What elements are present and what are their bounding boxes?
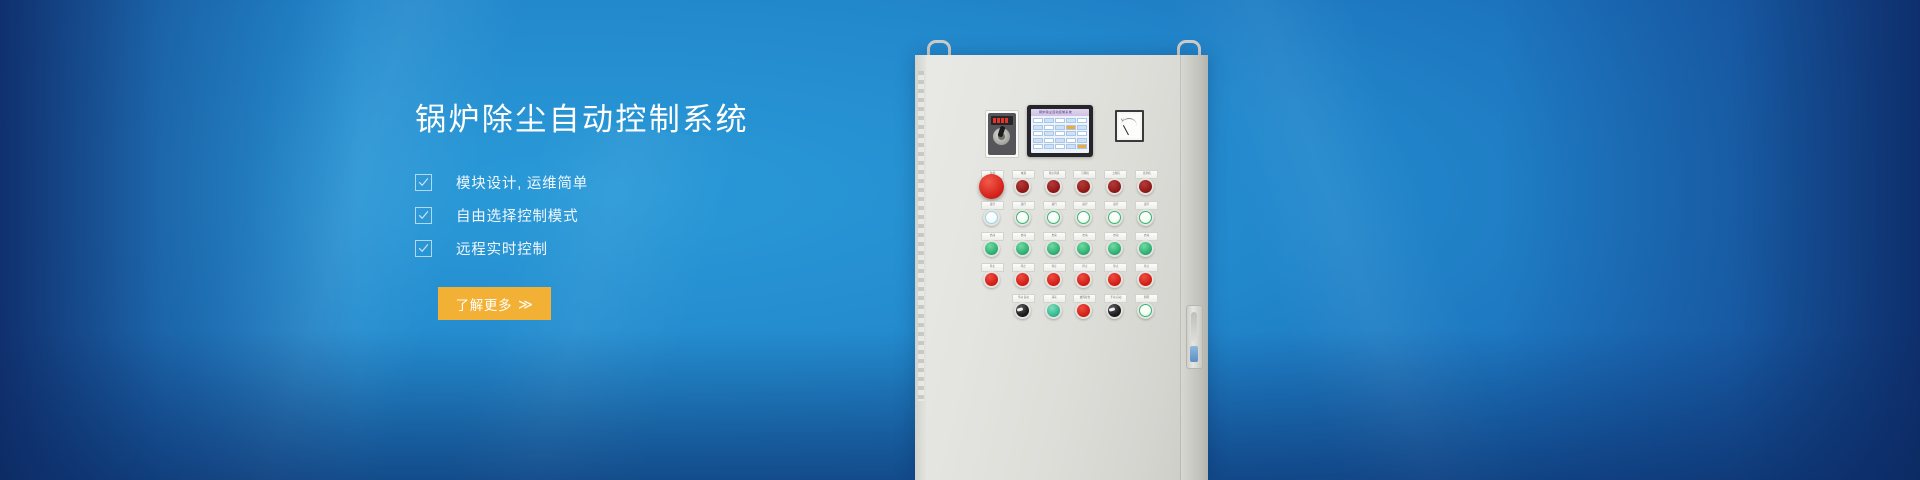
table-row: [1033, 125, 1087, 130]
indicator-light[interactable]: 照明: [1129, 294, 1160, 325]
table-cell: [1066, 131, 1076, 136]
feature-label: 模块设计, 运维简单: [456, 172, 588, 193]
selector-switch[interactable]: 手动 自动: [1098, 294, 1129, 325]
pushbutton-row: 运行 运行 运行 运行: [975, 201, 1160, 232]
emergency-stop-button[interactable]: 急停: [975, 170, 1006, 201]
table-cell: [1077, 131, 1087, 136]
list-item: 模块设计, 运维简单: [415, 166, 935, 199]
cabinet-body: 锅炉除尘自动控制系统: [915, 55, 1208, 480]
button-cap: [1014, 302, 1031, 319]
table-row: [1033, 144, 1087, 149]
page-title: 锅炉除尘自动控制系统: [415, 100, 935, 140]
start-button[interactable]: 启动: [1067, 232, 1098, 263]
hinge-strip: [915, 55, 926, 480]
learn-more-button[interactable]: 了解更多 ≫: [438, 287, 551, 320]
list-item: 远程实时控制: [415, 232, 935, 265]
hero-content: 锅炉除尘自动控制系统 模块设计, 运维简单 自由选择控制模式: [415, 100, 935, 320]
table-cell: [1077, 118, 1087, 123]
button-cap: [1075, 240, 1092, 257]
indicator-light[interactable]: 引风机: [1067, 170, 1098, 201]
pushbutton-grid: 急停 电源 除尘风机 引风机: [975, 170, 1160, 325]
table-cell: [1066, 118, 1076, 123]
table-cell: [1077, 138, 1087, 143]
indicator-light[interactable]: 除尘风机: [1037, 170, 1068, 201]
button-cap: [1137, 240, 1154, 257]
reset-button[interactable]: 故障复位: [1067, 294, 1098, 325]
button-cap: [1106, 240, 1123, 257]
button-cap: [1075, 302, 1092, 319]
start-button[interactable]: 启动: [1037, 232, 1068, 263]
button-cap: [1045, 178, 1062, 195]
door-handle: [1186, 305, 1203, 369]
button-cap: [1075, 178, 1092, 195]
hinge-teeth: [918, 71, 924, 401]
table-cell: [1077, 144, 1087, 149]
table-cell: [1066, 144, 1076, 149]
button-cap: [1106, 271, 1123, 288]
list-item: 自由选择控制模式: [415, 199, 935, 232]
hmi-title-text: 锅炉除尘自动控制系统: [1039, 110, 1072, 114]
checkbox-checked-icon: [415, 174, 432, 191]
stop-button[interactable]: 停止: [1098, 263, 1129, 294]
button-cap: [1045, 302, 1062, 319]
table-cell: [1033, 118, 1043, 123]
table-cell: [1044, 125, 1054, 130]
selector-switch[interactable]: 手动 自动: [1006, 294, 1037, 325]
table-cell: [1066, 125, 1076, 130]
button-cap: [1106, 178, 1123, 195]
button-cap: [1137, 302, 1154, 319]
indicator-light[interactable]: 运行: [1098, 201, 1129, 232]
indicator-light[interactable]: 运行: [975, 201, 1006, 232]
table-cell: [1066, 138, 1076, 143]
table-cell: [1077, 125, 1087, 130]
hmi-screen-surface: 锅炉除尘自动控制系统: [1031, 109, 1089, 153]
table-row: [1033, 138, 1087, 143]
indicator-light[interactable]: 清灰: [1037, 294, 1068, 325]
button-cap: [983, 209, 1000, 226]
pushbutton-row: 急停 电源 除尘风机 引风机: [975, 170, 1160, 201]
pushbutton-row: 停止 停止 停止 停止: [975, 263, 1160, 294]
table-cell: [1055, 144, 1065, 149]
feature-label: 远程实时控制: [456, 238, 548, 259]
checkbox-checked-icon: [415, 207, 432, 224]
pushbutton-row: 启动 启动 启动 启动: [975, 232, 1160, 263]
chevron-right-icon: ≫: [518, 297, 533, 311]
start-button[interactable]: 启动: [1098, 232, 1129, 263]
learn-more-label: 了解更多: [456, 294, 512, 314]
table-cell: [1033, 131, 1043, 136]
button-cap: [1075, 271, 1092, 288]
stop-button[interactable]: 停止: [1129, 263, 1160, 294]
pushbutton-row: 手动 自动 清灰 故障复位 手动 自动: [975, 294, 1160, 325]
button-cap: [1045, 240, 1062, 257]
button-cap: [1014, 240, 1031, 257]
start-button[interactable]: 启动: [1129, 232, 1160, 263]
cabinet-right-edge: [1181, 55, 1208, 480]
button-cap: [1106, 302, 1123, 319]
checkbox-checked-icon: [415, 240, 432, 257]
button-cap: [1106, 209, 1123, 226]
button-cap: [1014, 271, 1031, 288]
button-cap: [979, 174, 1004, 199]
button-cap: [983, 240, 1000, 257]
table-cell: [1033, 144, 1043, 149]
hmi-title-bar: 锅炉除尘自动控制系统: [1031, 109, 1089, 116]
indicator-light[interactable]: 运行: [1129, 201, 1160, 232]
vfd-display: [991, 116, 1013, 125]
table-cell: [1033, 125, 1043, 130]
button-cap: [1137, 271, 1154, 288]
button-cap: [983, 271, 1000, 288]
indicator-light[interactable]: 上煤机: [1098, 170, 1129, 201]
table-row: [1033, 118, 1087, 123]
vfd-dial-knob: [993, 128, 1010, 145]
feature-list: 模块设计, 运维简单 自由选择控制模式 远程实时控制: [415, 166, 935, 265]
right-vignette: [1500, 0, 1920, 480]
control-cabinet-image: 锅炉除尘自动控制系统: [905, 0, 1225, 480]
button-cap: [1075, 209, 1092, 226]
indicator-light[interactable]: 出渣机: [1129, 170, 1160, 201]
hero-banner: 锅炉除尘自动控制系统 模块设计, 运维简单 自由选择控制模式: [0, 0, 1920, 480]
table-cell: [1055, 125, 1065, 130]
button-cap: [1137, 209, 1154, 226]
start-button[interactable]: 启动: [1006, 232, 1037, 263]
analog-panel-meter: V: [1115, 110, 1144, 142]
vfd-keypad-module: [985, 110, 1019, 158]
button-cap: [1045, 271, 1062, 288]
stop-button[interactable]: 停止: [975, 263, 1006, 294]
table-cell: [1044, 118, 1054, 123]
left-vignette: [0, 0, 360, 480]
table-cell: [1055, 118, 1065, 123]
indicator-light[interactable]: 运行: [1067, 201, 1098, 232]
button-cap: [1045, 209, 1062, 226]
table-cell: [1044, 138, 1054, 143]
table-row: [1033, 131, 1087, 136]
vfd-faceplate: [988, 113, 1016, 155]
stop-button[interactable]: 停止: [1037, 263, 1068, 294]
button-cap: [1014, 209, 1031, 226]
indicator-light[interactable]: 运行: [1006, 201, 1037, 232]
meter-face: V: [1119, 114, 1140, 138]
table-cell: [1055, 138, 1065, 143]
seven-segment-digits: [993, 118, 1009, 123]
button-cap: [1014, 178, 1031, 195]
indicator-light[interactable]: 电源: [1006, 170, 1037, 201]
start-button[interactable]: 启动: [975, 232, 1006, 263]
feature-label: 自由选择控制模式: [456, 205, 578, 226]
table-cell: [1055, 131, 1065, 136]
stop-button[interactable]: 停止: [1006, 263, 1037, 294]
indicator-light[interactable]: 运行: [1037, 201, 1068, 232]
table-cell: [1044, 131, 1054, 136]
table-cell: [1033, 138, 1043, 143]
button-cap: [1137, 178, 1154, 195]
hmi-touchscreen: 锅炉除尘自动控制系统: [1027, 105, 1093, 157]
hmi-data-table: [1033, 118, 1087, 151]
stop-button[interactable]: 停止: [1067, 263, 1098, 294]
table-cell: [1044, 144, 1054, 149]
